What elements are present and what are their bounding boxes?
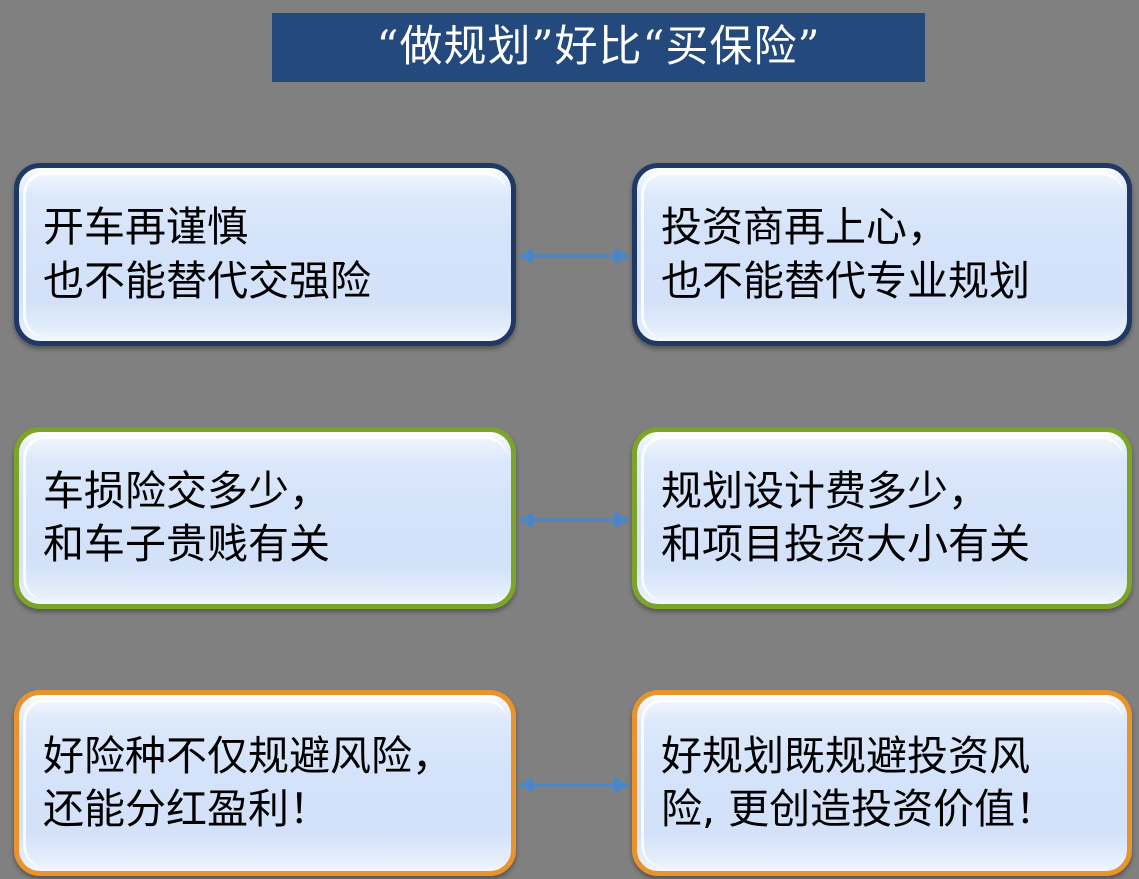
box-row1-right-text: 投资商再上心， 也不能替代专业规划 <box>637 201 1040 308</box>
box-row3-right-text: 好规划既规避投资风 险, 更创造投资价值！ <box>637 730 1066 837</box>
page-title: “做规划”好比“买保险” <box>377 26 821 69</box>
box-row2-right[interactable]: 规划设计费多少， 和项目投资大小有关 <box>632 427 1132 609</box>
box-row1-left-text: 开车再谨慎 也不能替代交强险 <box>19 201 381 308</box>
box-row1-right[interactable]: 投资商再上心， 也不能替代专业规划 <box>632 163 1132 346</box>
slide-canvas: “做规划”好比“买保险” 开车再谨慎 也不能替代交强险 投资商再上心， 也不能替… <box>0 0 1139 879</box>
box-row3-right[interactable]: 好规划既规避投资风 险, 更创造投资价值！ <box>632 690 1132 876</box>
title-banner: “做规划”好比“买保险” <box>272 13 925 82</box>
box-row3-left-text: 好险种不仅规避风险， 还能分红盈利！ <box>19 730 463 837</box>
box-row2-left-text: 车损险交多少， 和车子贵贱有关 <box>19 465 340 572</box>
double-arrow-icon <box>518 243 630 269</box>
box-row1-left[interactable]: 开车再谨慎 也不能替代交强险 <box>14 163 516 346</box>
connector-row2 <box>518 507 630 533</box>
connector-row1 <box>518 243 630 269</box>
box-row3-left[interactable]: 好险种不仅规避风险， 还能分红盈利！ <box>14 690 516 876</box>
double-arrow-icon <box>518 507 630 533</box>
box-row2-right-text: 规划设计费多少， 和项目投资大小有关 <box>637 465 1040 572</box>
box-row2-left[interactable]: 车损险交多少， 和车子贵贱有关 <box>14 427 516 609</box>
double-arrow-icon <box>518 772 630 798</box>
connector-row3 <box>518 772 630 798</box>
